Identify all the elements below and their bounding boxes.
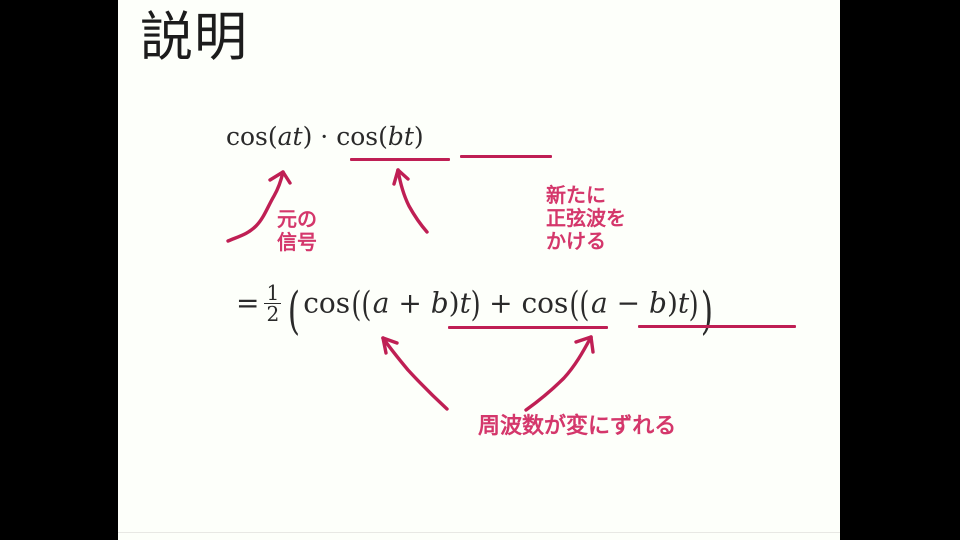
formula1-dot-operator: · [312, 122, 336, 151]
formula2-open-paren: ( [288, 282, 300, 341]
underline-cos-bt [460, 155, 552, 158]
formula2-cos-sum-close2: ) [471, 285, 481, 325]
video-frame: 説明 cos(at) · cos(bt) =12(cos((a + b)t) +… [0, 0, 960, 540]
formula-line-1: cos(at) · cos(bt) [226, 122, 424, 151]
letterbox-bar-left [0, 0, 118, 540]
underline-cos-at [350, 158, 450, 161]
formula2-cos-diff-close: ) [667, 287, 678, 320]
underline-cos-sum [448, 326, 608, 329]
formula2-plus-operator: + [480, 287, 521, 320]
formula2-cos-diff-close2: ) [689, 285, 699, 325]
formula1-cos-b-close: ) [414, 122, 424, 151]
formula2-cos-sum-open: (( [351, 285, 371, 325]
formula2-half-fraction: 12 [264, 283, 281, 325]
formula1-cos-a-arg: at [278, 122, 303, 151]
slide-canvas: 説明 cos(at) · cos(bt) =12(cos((a + b)t) +… [118, 0, 840, 540]
formula2-cos-sum-plus: + [389, 287, 430, 320]
annotation-frequency-shift: 周波数が変にずれる [478, 414, 676, 440]
formula2-cos-diff-t: t [678, 287, 689, 320]
formula1-cos-a-close: ) [303, 122, 313, 151]
formula2-cos-diff-open: (( [570, 285, 590, 325]
formula2-cos-sum-close: ) [449, 287, 460, 320]
formula1-cos-a-open: cos( [226, 122, 278, 151]
formula2-cos-diff-arg-b: b [649, 287, 667, 320]
annotation-original-signal: 元の 信号 [277, 208, 317, 254]
underline-cos-diff [638, 325, 796, 328]
annotation-new-sine-wave: 新たに 正弦波を かける [546, 184, 626, 254]
formula2-numerator: 1 [264, 283, 281, 304]
formula2-cos-diff: cos [521, 287, 568, 320]
formula2-cos-diff-minus: − [608, 287, 649, 320]
letterbox-bar-right [840, 0, 960, 540]
slide-bottom-rule [118, 532, 840, 533]
formula2-equals: = [236, 287, 259, 320]
formula1-cos-b-arg: bt [388, 122, 414, 151]
formula2-cos-sum: cos [303, 287, 350, 320]
formula2-cos-sum-arg-a: a [373, 287, 390, 320]
formula-line-2: =12(cos((a + b)t) + cos((a − b)t)) [236, 282, 716, 341]
formula2-denominator: 2 [264, 303, 281, 325]
formula2-cos-sum-t: t [460, 287, 471, 320]
formula2-close-paren: ) [701, 282, 713, 341]
formula2-cos-sum-arg-b: b [431, 287, 449, 320]
formula1-cos-b-open: cos( [336, 122, 388, 151]
page-title: 説明 [140, 10, 248, 66]
formula2-cos-diff-arg-a: a [591, 287, 608, 320]
